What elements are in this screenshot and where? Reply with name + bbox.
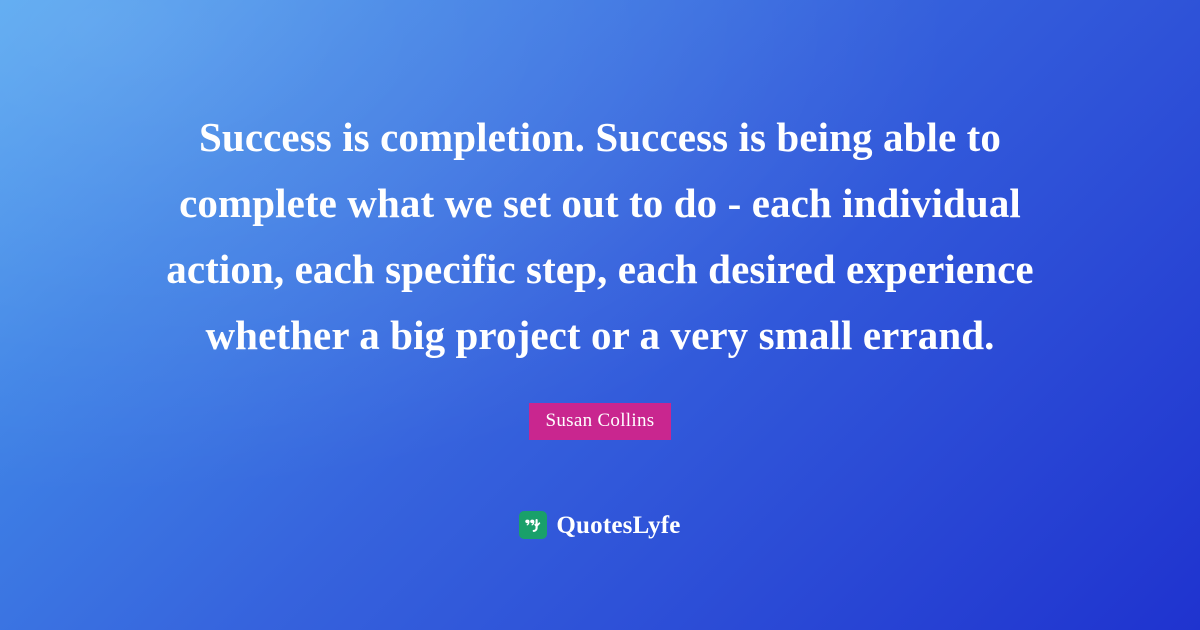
- quote-card: Success is completion. Success is being …: [0, 0, 1200, 630]
- brand-name: QuotesLyfe: [556, 513, 680, 538]
- author-badge[interactable]: Susan Collins: [529, 403, 672, 440]
- brand-logo[interactable]: QuotesLyfe: [0, 511, 1200, 539]
- quote-bubble-icon: [519, 511, 547, 539]
- quote-text: Success is completion. Success is being …: [150, 104, 1050, 368]
- author-container: Susan Collins: [0, 403, 1200, 440]
- quote-body: Success is completion. Success is being …: [150, 104, 1050, 368]
